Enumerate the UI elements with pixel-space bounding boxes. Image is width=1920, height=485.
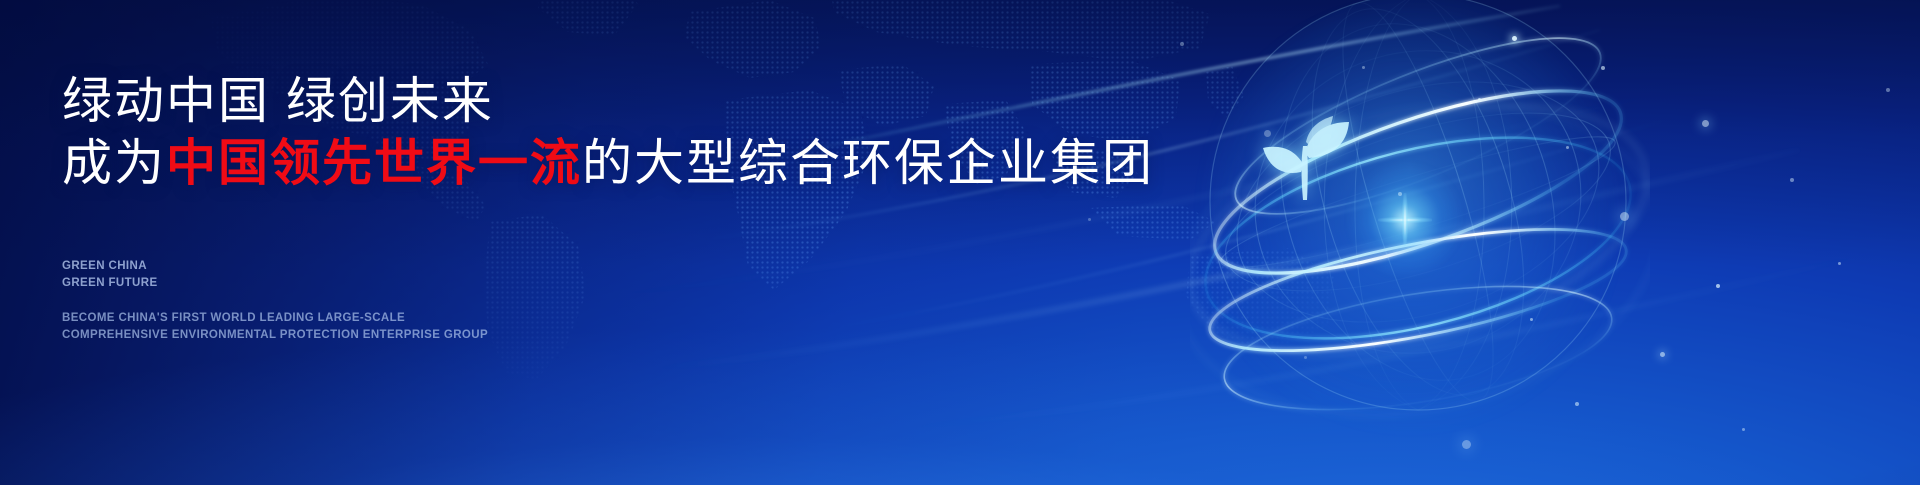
headline-prefix: 成为	[62, 135, 166, 191]
headline-line-2: 成为中国领先世界一流的大型综合环保企业集团	[62, 134, 1154, 193]
tagline-block: GREEN CHINA GREEN FUTURE	[62, 258, 158, 291]
headline-block: 绿动中国 绿创未来 成为中国领先世界一流的大型综合环保企业集团	[62, 72, 1154, 193]
headline-highlight: 中国领先世界一流	[166, 135, 582, 191]
headline-line-1: 绿动中国 绿创未来	[62, 72, 1154, 131]
subtitle-line-1: BECOME CHINA'S FIRST WORLD LEADING LARGE…	[62, 310, 488, 327]
hero-banner: 绿动中国 绿创未来 成为中国领先世界一流的大型综合环保企业集团 GREEN CH…	[0, 0, 1920, 485]
headline-suffix: 的大型综合环保企业集团	[582, 135, 1154, 191]
subtitle-block: BECOME CHINA'S FIRST WORLD LEADING LARGE…	[62, 310, 488, 343]
tagline-line-2: GREEN FUTURE	[62, 275, 158, 292]
globe-core-star	[1382, 197, 1428, 243]
sprout-leaf-icon	[1251, 108, 1355, 204]
tagline-line-1: GREEN CHINA	[62, 258, 158, 275]
subtitle-line-2: COMPREHENSIVE ENVIRONMENTAL PROTECTION E…	[62, 327, 488, 344]
